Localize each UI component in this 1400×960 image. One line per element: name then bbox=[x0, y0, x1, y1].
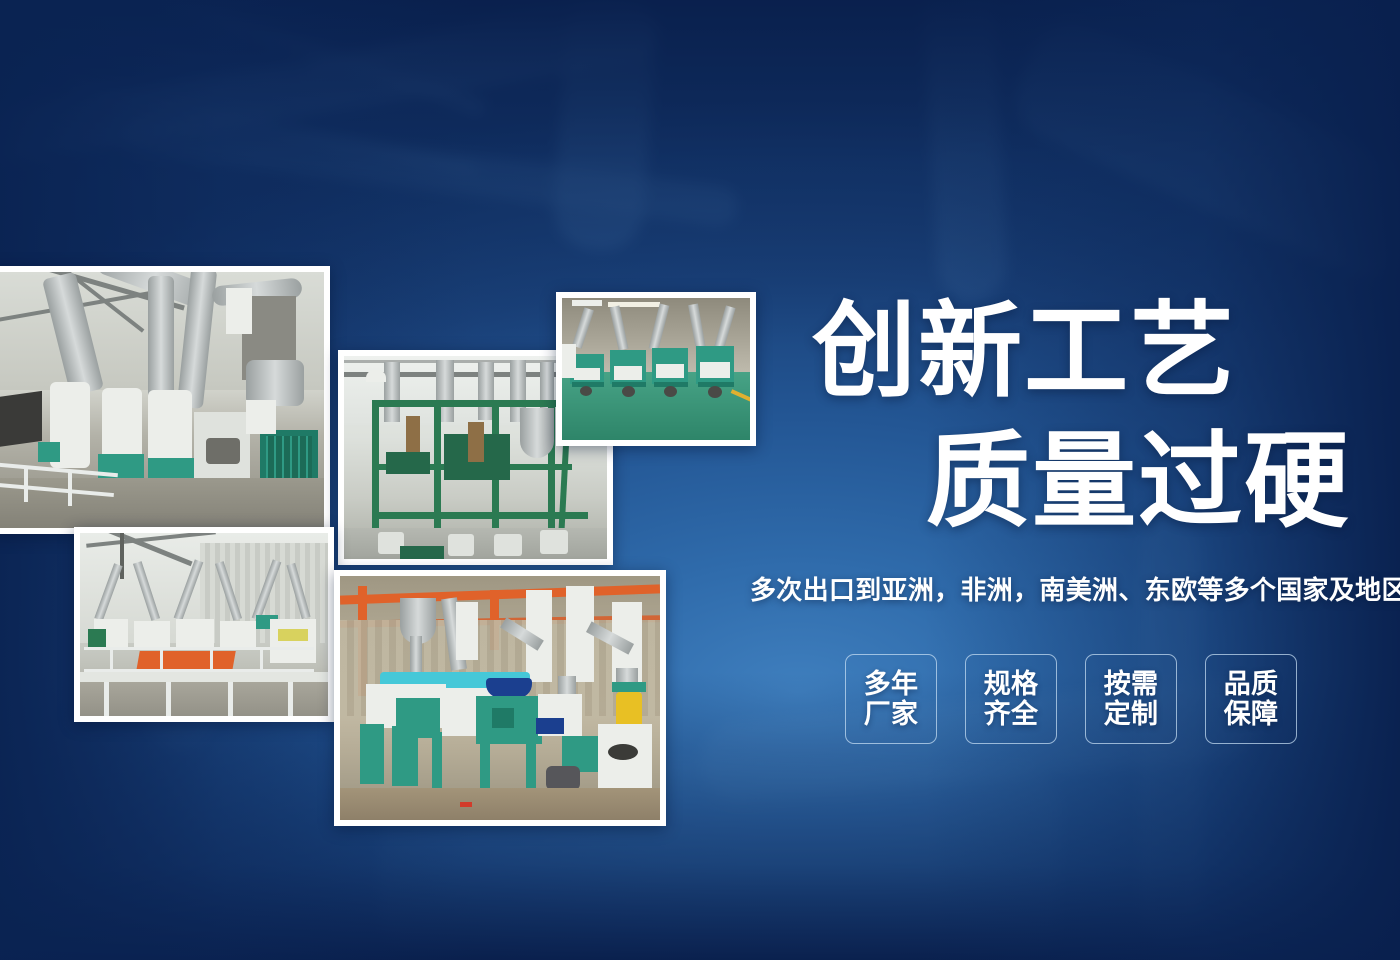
badge-label: 规格 齐全 bbox=[984, 669, 1039, 729]
photo-collage bbox=[0, 0, 780, 960]
subtitle: 多次出口到亚洲，非洲，南美洲、东欧等多个国家及地区 bbox=[750, 570, 1400, 607]
feature-badge-group: 多年 厂家 规格 齐全 按需 定制 品质 保障 bbox=[845, 654, 1297, 744]
photo-rice-mill-line bbox=[0, 266, 330, 534]
badge-full-specifications[interactable]: 规格 齐全 bbox=[965, 654, 1057, 744]
photo-teal-machines-large bbox=[334, 570, 666, 826]
badge-label: 多年 厂家 bbox=[864, 669, 919, 729]
badge-quality-guarantee[interactable]: 品质 保障 bbox=[1205, 654, 1297, 744]
headline-line-1: 创新工艺 bbox=[812, 300, 1236, 404]
badge-years-manufacturer[interactable]: 多年 厂家 bbox=[845, 654, 937, 744]
headline-line-2: 质量过硬 bbox=[926, 430, 1350, 534]
photo-platform-line bbox=[74, 527, 334, 722]
copy-block: 创新工艺 质量过硬 多次出口到亚洲，非洲，南美洲、东欧等多个国家及地区 多年 厂… bbox=[740, 0, 1400, 960]
promotional-banner: 创新工艺 质量过硬 多次出口到亚洲，非洲，南美洲、东欧等多个国家及地区 多年 厂… bbox=[0, 0, 1400, 960]
badge-label: 品质 保障 bbox=[1224, 669, 1279, 729]
badge-custom-made[interactable]: 按需 定制 bbox=[1085, 654, 1177, 744]
badge-label: 按需 定制 bbox=[1104, 669, 1159, 729]
photo-teal-mill-row bbox=[556, 292, 756, 446]
